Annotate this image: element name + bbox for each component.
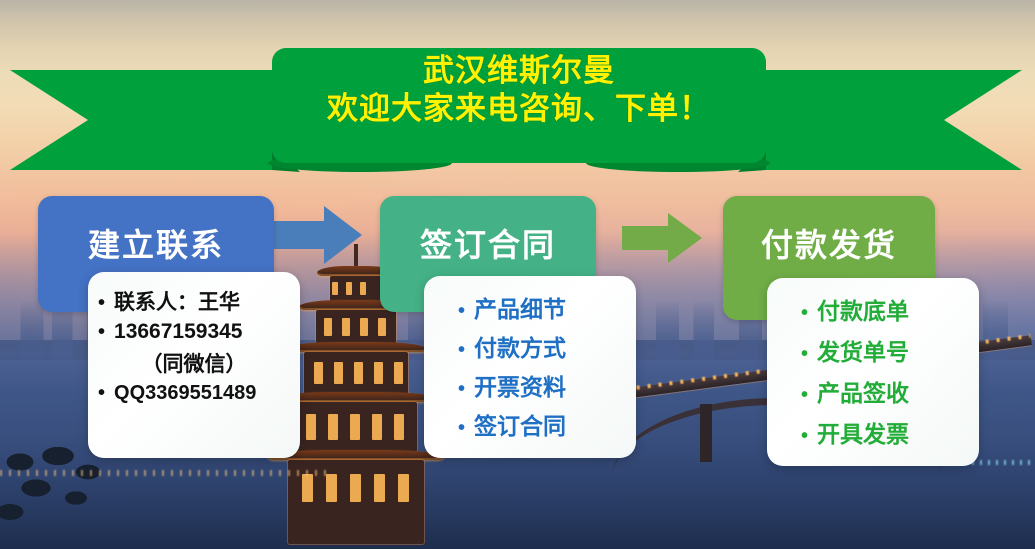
list-item-label: 签订合同	[474, 407, 566, 441]
ribbon-banner: 武汉维斯尔曼 欢迎大家来电咨询、下单！	[0, 0, 1035, 190]
step-3-bullet-list: • 付款底单 • 发货单号 • 产品签收 • 开具发票	[777, 292, 969, 449]
list-item: • 13667159345	[98, 320, 290, 344]
shore-lights-left	[0, 470, 330, 476]
list-item: • 产品细节	[434, 290, 626, 324]
list-item-label: 开具发票	[817, 415, 909, 449]
bullet-icon: •	[801, 303, 808, 323]
list-item-label: 发货单号	[817, 333, 909, 367]
list-item-label: QQ3369551489	[114, 382, 256, 405]
list-item-label: 付款方式	[474, 329, 566, 363]
step-2-bullet-list: • 产品细节 • 付款方式 • 开票资料 • 签订合同	[434, 290, 626, 441]
list-item-subline: （同微信）	[98, 348, 290, 378]
step-1-panel: • 联系人：王华 • 13667159345 （同微信） • QQ3369551…	[88, 272, 300, 458]
list-item: • 付款底单	[777, 292, 969, 326]
list-item-label: 联系人：王华	[114, 286, 240, 316]
bridge-pier	[700, 404, 712, 462]
arrow-step1-to-step2	[272, 204, 364, 266]
list-item-subline-row: （同微信）	[98, 348, 290, 378]
list-item: • 签订合同	[434, 407, 626, 441]
step-2-panel: • 产品细节 • 付款方式 • 开票资料 • 签订合同	[424, 276, 636, 458]
bullet-icon: •	[458, 340, 465, 360]
list-item-label: 付款底单	[817, 292, 909, 326]
list-item-label: 13667159345	[114, 320, 242, 344]
bullet-icon: •	[98, 383, 105, 403]
list-item: • 付款方式	[434, 329, 626, 363]
poster-canvas: 武汉维斯尔曼 欢迎大家来电咨询、下单！ 建立联系 • 联系人：王华 • 1366…	[0, 0, 1035, 549]
list-item: • 开票资料	[434, 368, 626, 402]
bullet-icon: •	[801, 344, 808, 364]
bullet-icon: •	[458, 379, 465, 399]
step-3-title: 付款发货	[761, 220, 897, 266]
step-1-title: 建立联系	[88, 220, 224, 266]
list-item: • 联系人：王华	[98, 286, 290, 316]
bullet-icon: •	[458, 418, 465, 438]
list-item: • 产品签收	[777, 374, 969, 408]
list-item-label: 产品细节	[474, 290, 566, 324]
ribbon-text-block: 武汉维斯尔曼 欢迎大家来电咨询、下单！	[272, 52, 766, 128]
list-item-label: 开票资料	[474, 368, 566, 402]
step-3-panel: • 付款底单 • 发货单号 • 产品签收 • 开具发票	[767, 278, 979, 466]
arrow-step2-to-step3	[622, 212, 704, 264]
step-2-title: 签订合同	[420, 220, 556, 266]
foreground-tree	[0, 446, 112, 549]
list-item: • 发货单号	[777, 333, 969, 367]
bullet-icon: •	[458, 301, 465, 321]
step-1-bullet-list: • 联系人：王华 • 13667159345 （同微信） • QQ3369551…	[98, 286, 290, 405]
bullet-icon: •	[98, 322, 105, 342]
banner-title-line-2: 欢迎大家来电咨询、下单！	[272, 90, 766, 128]
bullet-icon: •	[801, 385, 808, 405]
bullet-icon: •	[801, 426, 808, 446]
banner-title-line-1: 武汉维斯尔曼	[272, 52, 766, 90]
list-item: • QQ3369551489	[98, 382, 290, 405]
list-item: • 开具发票	[777, 415, 969, 449]
bullet-icon: •	[98, 293, 105, 313]
list-item-label: 产品签收	[817, 374, 909, 408]
